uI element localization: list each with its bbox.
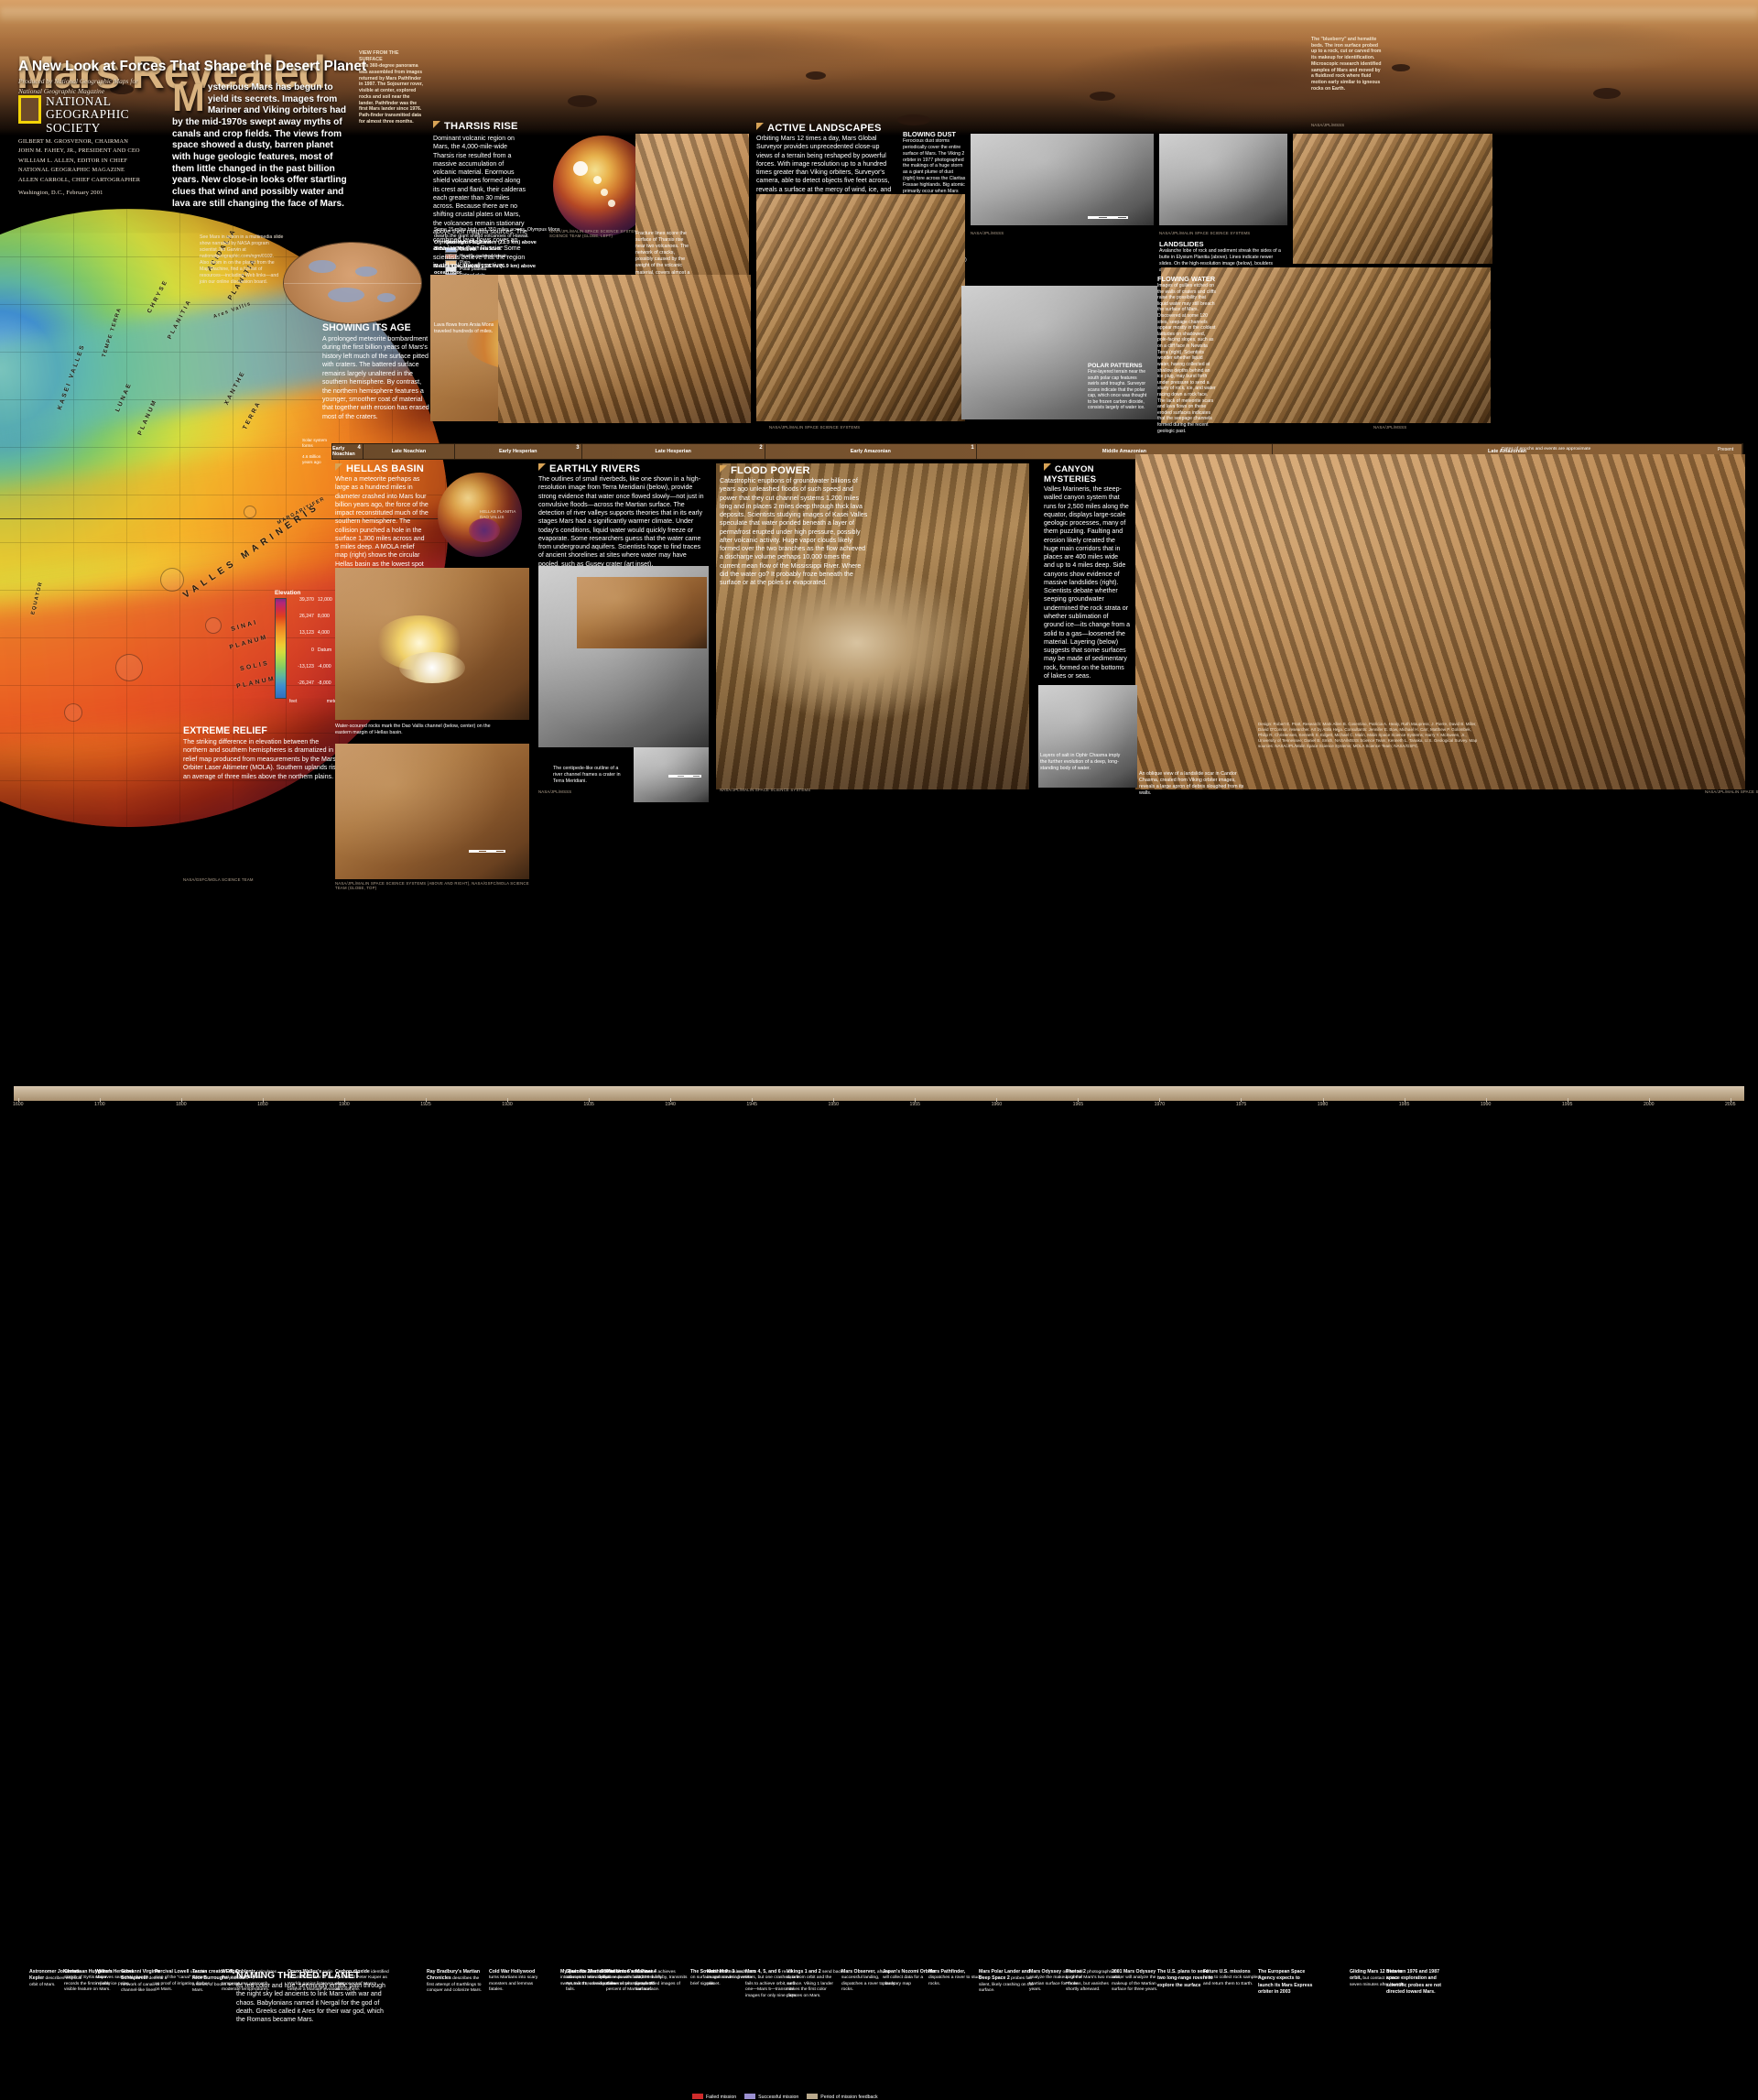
volcano-marker bbox=[608, 200, 615, 207]
design-credit: Design: Robert E. Pratt, Research: Mark … bbox=[1258, 722, 1478, 750]
legend-failed-mission: Failed mission bbox=[692, 2094, 736, 2100]
year-tick: 1800 bbox=[176, 1102, 187, 1107]
dao-vallis-photo bbox=[335, 744, 529, 879]
top-right-photo-note: The "blueberry" and hematite beds. The i… bbox=[1311, 37, 1383, 92]
panel-body: The striking difference in elevation bet… bbox=[183, 738, 343, 781]
epoch-segment: Early Hesperian3 bbox=[455, 444, 582, 459]
yellow-rectangle-icon bbox=[18, 95, 41, 124]
timeline-entry: Mariner 4 achieves successful flyby, tra… bbox=[635, 1969, 692, 1994]
epoch-approximate-note: Dates of epochs and events are approxima… bbox=[1502, 447, 1590, 452]
timeline-entry-title: Future U.S. missions bbox=[1203, 1969, 1251, 1975]
elevation-feet: 13,123 bbox=[289, 631, 314, 647]
timeline-entry: Vikings 1 and 2 send back data from orbi… bbox=[787, 1969, 843, 1999]
flag-icon bbox=[720, 465, 727, 473]
dust-plume-photo bbox=[1159, 134, 1287, 225]
epoch-label: Late Noachian bbox=[392, 449, 427, 454]
elevation-color-ramp bbox=[275, 598, 287, 699]
year-tick: 1925 bbox=[420, 1102, 431, 1107]
timeline-entry-title: W. W. Coblentz bbox=[222, 1969, 255, 1975]
epoch-marker: 1 bbox=[971, 445, 973, 451]
epoch-segment: Early Noachian4 bbox=[332, 444, 364, 459]
photo-credit: NASA/JPL/MALIN SPACE SCIENCE SYSTEMS bbox=[1705, 789, 1758, 794]
year-tick: 1965 bbox=[1073, 1102, 1084, 1107]
earthly-rivers-panel: EARTHLY RIVERS The outlines of small riv… bbox=[538, 463, 709, 569]
timeline-entry-title: Soviet Union's bbox=[601, 1969, 634, 1975]
year-tick: 2000 bbox=[1644, 1102, 1655, 1107]
olympus-datum-note: Olympus Mons 13.2 miles (21.3 km) above … bbox=[434, 240, 544, 254]
year-tick: 1900 bbox=[339, 1102, 350, 1107]
horizon-haze bbox=[0, 7, 1758, 20]
rock bbox=[806, 71, 826, 80]
timeline-entry-title: William Herschel bbox=[95, 1969, 133, 1975]
drop-cap: M bbox=[172, 83, 205, 114]
ejecta-plume bbox=[399, 652, 465, 683]
timeline-legend: Failed mission Successful mission Period… bbox=[692, 2094, 878, 2100]
panel-heading: EARTHLY RIVERS bbox=[538, 463, 709, 474]
rock bbox=[1090, 92, 1115, 101]
timeline-entry-title: Mariner 9 bbox=[707, 1969, 728, 1975]
panel-body: Fine-layered terrain near the south pola… bbox=[1088, 369, 1148, 411]
panel-body: Valles Marineris, the steep-walled canyo… bbox=[1044, 485, 1130, 680]
epoch-label: Late Hesperian bbox=[655, 449, 690, 454]
elevation-feet: 0 bbox=[289, 648, 314, 665]
gusev-crater-art-inset bbox=[577, 577, 707, 648]
timeline-entry: Mars Polar Lander and Deep Space 2 probe… bbox=[979, 1969, 1036, 1995]
river-channel-caption: The centipede-like outline of a river ch… bbox=[553, 766, 624, 785]
equator-line bbox=[284, 283, 421, 284]
timeline-entry: Carbon dioxide identified by Gerard Pete… bbox=[335, 1969, 392, 1994]
photo-credit: NASA/JPL/MSSS bbox=[971, 231, 1004, 235]
timeline-entry-title: Between 1976 and 1987 space exploration … bbox=[1386, 1969, 1441, 1995]
timeline-entry-title: Carbon dioxide bbox=[335, 1969, 370, 1975]
flag-icon bbox=[433, 121, 440, 128]
timeline-entry-title: Mariner 4 bbox=[635, 1969, 657, 1975]
hellas-basin-marker bbox=[469, 518, 500, 542]
timeline-entry: Ray Bradbury's Martian Chronicles descri… bbox=[427, 1969, 483, 1995]
timeline-entry-body: dispatches a rover to study rocks. bbox=[928, 1975, 982, 1986]
elevation-row: -13,123-4,000 bbox=[289, 665, 341, 681]
epoch-segment: Late Noachian bbox=[364, 444, 455, 459]
photo-credit: NASA/JPL/MALIN SPACE SCIENCE SYSTEMS bbox=[769, 425, 860, 430]
elevation-feet: 26,247 bbox=[289, 615, 314, 631]
elevation-feet: -13,123 bbox=[289, 665, 314, 681]
volcano-marker bbox=[601, 189, 608, 196]
elevation-feet: -26,247 bbox=[289, 681, 314, 698]
flag-icon bbox=[335, 463, 342, 471]
flag-icon bbox=[756, 123, 764, 130]
map-region bbox=[355, 267, 377, 277]
polar-patterns-panel: POLAR PATTERNS Fine-layered terrain near… bbox=[1088, 363, 1148, 411]
national-geographic-logo: NATIONAL GEOGRAPHIC SOCIETY bbox=[18, 95, 129, 135]
panel-heading: CANYON MYSTERIES bbox=[1044, 463, 1132, 484]
panel-heading: SHOWING ITS AGE bbox=[322, 322, 430, 333]
landslide-butte-photo bbox=[1293, 134, 1492, 264]
timeline-entry: The European Space Agency expects to lau… bbox=[1258, 1969, 1315, 1997]
year-tick: 1600 bbox=[13, 1102, 24, 1107]
timeline-entry-title: Mars Pathfinder, bbox=[928, 1969, 965, 1975]
epoch-marker: 3 bbox=[576, 445, 579, 451]
timeline-entry: William Herschel observes seasonal chang… bbox=[95, 1969, 152, 1987]
year-tick: 1700 bbox=[94, 1102, 105, 1107]
year-tick: 1940 bbox=[665, 1102, 676, 1107]
photo-credit: NASA/JPL/MALIN SPACE SCIENCE SYSTEMS bbox=[720, 788, 810, 792]
panel-heading: ACTIVE LANDSCAPES bbox=[756, 123, 894, 134]
rock bbox=[568, 95, 597, 107]
flowing-water-panel: FLOWING WATER Images of gullies etched o… bbox=[1157, 275, 1216, 434]
epoch-marker: 2 bbox=[759, 445, 762, 451]
map-region bbox=[377, 293, 396, 302]
timeline-entry: Future U.S. missions hope to collect roc… bbox=[1203, 1969, 1260, 1987]
map-region bbox=[328, 288, 364, 302]
scale-bar bbox=[1088, 216, 1128, 219]
epoch-marker: 4 bbox=[358, 445, 361, 451]
photo-credit: NASA/JPL/MSSS bbox=[538, 789, 571, 794]
swatch bbox=[807, 2094, 818, 2099]
elevation-row: -26,247-8,000 bbox=[289, 681, 341, 698]
panel-body: Images of gullies etched on the walls of… bbox=[1157, 283, 1216, 434]
timeline-entry-title: 2001 Mars Odyssey bbox=[1112, 1969, 1156, 1975]
scale-bar bbox=[469, 850, 505, 853]
dune-field-photo bbox=[756, 194, 965, 421]
elevation-row: 39,37012,000 bbox=[289, 598, 341, 615]
epoch-segment: Late Hesperian2 bbox=[582, 444, 765, 459]
epoch-segment: Early Amazonian1 bbox=[765, 444, 977, 459]
scale-bar-segments bbox=[469, 850, 505, 853]
photo-credit: NASA/JPL/MALIN SPACE SCIENCE SYSTEMS bbox=[1159, 231, 1250, 235]
scale-bar-segments bbox=[668, 775, 701, 778]
intro-paragraph: M ysterious Mars has begun to yield its … bbox=[172, 82, 352, 210]
elevation-row: 0Datum bbox=[289, 648, 341, 665]
timeline-entry-title: Cold War Hollywood bbox=[489, 1969, 535, 1975]
year-tick: 2005 bbox=[1725, 1102, 1736, 1107]
timeline-entry-title: The European Space Agency expects to lau… bbox=[1258, 1969, 1312, 1995]
year-tick: 1970 bbox=[1155, 1102, 1166, 1107]
year-tick: 1990 bbox=[1481, 1102, 1492, 1107]
layers-caption: Layers of salt in Ophir Chasma imply the… bbox=[1040, 753, 1126, 772]
photo-credit: NASA/JPL/MSSS bbox=[1373, 425, 1406, 430]
timeline-entry: Between 1976 and 1987 space exploration … bbox=[1386, 1969, 1443, 1997]
year-tick: 1935 bbox=[583, 1102, 594, 1107]
timeline-entry-title: Mars Odyssey bbox=[1029, 1969, 1061, 1975]
timeline-entry: Mars Pathfinder, dispatches a rover to s… bbox=[928, 1969, 985, 1987]
timeline-entry-body: turns Martians into scary monsters and l… bbox=[489, 1975, 537, 1992]
legend-title: Elevation bbox=[275, 590, 341, 596]
panel-heading: FLOOD POWER bbox=[720, 465, 872, 476]
timeline-entry-title: Percival Lowell bbox=[155, 1969, 189, 1975]
epoch-label: Early Hesperian bbox=[499, 449, 537, 454]
year-tick: 1950 bbox=[828, 1102, 839, 1107]
year-tick: 1850 bbox=[257, 1102, 268, 1107]
multimedia-promo-note: See Mars in action in a multimedia slide… bbox=[200, 234, 284, 286]
billions-years-ago-label: 4.6 Billion years ago bbox=[302, 454, 330, 464]
rock bbox=[1593, 88, 1621, 99]
elevation-legend: Elevation 39,37012,00026,2478,00013,1234… bbox=[275, 590, 341, 704]
panel-body: The outlines of small riverbeds, like on… bbox=[538, 475, 707, 569]
year-tick: 1955 bbox=[910, 1102, 921, 1107]
canyon-mysteries-panel: CANYON MYSTERIES Valles Marineris, the s… bbox=[1044, 463, 1132, 680]
olympus-mons-marker bbox=[573, 161, 588, 176]
scale-bar bbox=[668, 775, 701, 778]
elevation-row: 13,1234,000 bbox=[289, 631, 341, 647]
solar-system-forms-label: Solar system forms bbox=[302, 438, 330, 448]
lava-flow-note: Lava flows from Arsia Mons traveled hund… bbox=[434, 322, 498, 335]
timeline-entry-body: orbiter will analyze the makeup of the M… bbox=[1112, 1975, 1157, 1992]
hellas-globe-labels: HELLAS PLANITIA DAO VALLIS bbox=[480, 509, 520, 520]
year-tick: 1930 bbox=[502, 1102, 513, 1107]
swatch bbox=[744, 2094, 755, 2099]
oblique-view-caption: An oblique view of a landslide scar in C… bbox=[1139, 771, 1249, 797]
rock bbox=[897, 114, 930, 125]
present-label: Present bbox=[1718, 447, 1733, 452]
valles-marineris-photo bbox=[498, 275, 751, 423]
logo-wordmark: NATIONAL GEOGRAPHIC SOCIETY bbox=[46, 95, 129, 135]
timeline-entry-title: Mars 4, 5, and 6 bbox=[745, 1969, 781, 1975]
year-tick: 1980 bbox=[1318, 1102, 1329, 1107]
panel-heading: EXTREME RELIEF bbox=[183, 725, 343, 736]
flood-power-panel: FLOOD POWER Catastrophic eruptions of gr… bbox=[720, 465, 872, 587]
panel-body: A prolonged meteorite bombardment during… bbox=[322, 335, 430, 421]
page-subtitle: A New Look at Forces That Shape the Dese… bbox=[18, 59, 366, 75]
elevation-feet: 39,370 bbox=[289, 598, 314, 615]
volcano-marker bbox=[593, 176, 602, 184]
geology-oval-map bbox=[284, 243, 421, 323]
masthead-credits: GILBERT M. GROSVENOR, CHAIRMAN JOHN M. F… bbox=[18, 137, 183, 198]
map-region bbox=[309, 260, 336, 273]
panel-body: Orbiting Mars 12 times a day, Mars Globa… bbox=[756, 135, 892, 202]
unit-feet: feet bbox=[289, 699, 297, 704]
panel-body: Catastrophic eruptions of groundwater bi… bbox=[720, 477, 870, 587]
timeline-entry-body: observes seasonal change in polar ice po… bbox=[95, 1975, 148, 1986]
olympus-scale-note: Some 15 miles high and 350 miles across,… bbox=[434, 227, 562, 240]
panel-heading: BLOWING DUST bbox=[903, 130, 967, 138]
photo-credit: NASA/JPL/MSSS bbox=[1311, 123, 1344, 127]
extreme-relief-panel: EXTREME RELIEF The striking difference i… bbox=[183, 725, 343, 781]
rock bbox=[1392, 64, 1410, 71]
scale-bar-segments bbox=[1088, 216, 1128, 219]
timeline-entry-title: Vikings 1 and 2 bbox=[787, 1969, 821, 1975]
year-tick: 1960 bbox=[992, 1102, 1003, 1107]
swatch bbox=[692, 2094, 703, 2099]
legend-mission-feedback: Period of mission feedback bbox=[807, 2094, 877, 2100]
view-from-surface-note: VIEW FROM THE SURFACE This 360-degree pa… bbox=[359, 50, 423, 125]
legend-successful-mission: Successful mission bbox=[744, 2094, 798, 2100]
dust-dunes-photo bbox=[971, 134, 1154, 225]
hellas-impact-illustration bbox=[335, 568, 529, 720]
panel-heading: LANDSLIDES bbox=[1159, 240, 1287, 248]
flag-icon bbox=[1044, 463, 1051, 471]
panel-heading: FLOWING WATER bbox=[1157, 275, 1216, 283]
elevation-row: 26,2478,000 bbox=[289, 615, 341, 631]
year-tick: 1945 bbox=[746, 1102, 757, 1107]
timeline-entry: Cold War Hollywood turns Martians into s… bbox=[489, 1969, 546, 1994]
showing-its-age-panel: SHOWING ITS AGE A prolonged meteorite bo… bbox=[322, 322, 430, 421]
panel-heading: POLAR PATTERNS bbox=[1088, 363, 1148, 369]
dao-vallis-caption: Water-scoured rocks mark the Dao Vallis … bbox=[335, 724, 491, 736]
timeline-entry-body: will collect data for a planetary map bbox=[883, 1975, 923, 1986]
active-landscapes-panel: ACTIVE LANDSCAPES Orbiting Mars 12 times… bbox=[756, 123, 894, 202]
timeline-entry-title: Orson Welles's bbox=[288, 1969, 321, 1975]
photo-credit: NASA/JPL/MALIN SPACE SCIENCE SYSTEMS (AB… bbox=[335, 881, 529, 890]
timeline-entry-title: Mars Observer, bbox=[841, 1969, 876, 1975]
timeline-entry-title: Photos 2 bbox=[1066, 1969, 1086, 1975]
year-tick: 1985 bbox=[1399, 1102, 1410, 1107]
flag-icon bbox=[538, 463, 546, 471]
poster-root: Mars Revealed A New Look at Forces That … bbox=[0, 0, 1758, 1139]
photo-credit: NASA/GSFC/MOLA SCIENCE TEAM bbox=[183, 877, 254, 882]
epoch-label: Early Amazonian bbox=[851, 449, 891, 454]
timeline-entry-body: hope to collect rock samples and return … bbox=[1203, 1975, 1260, 1986]
mars-exploration-timeline: NAMING THE RED PLANET Its red color and … bbox=[0, 980, 1758, 1139]
year-tick: 1995 bbox=[1562, 1102, 1573, 1107]
year-tick: 1975 bbox=[1236, 1102, 1247, 1107]
panel-heading: THARSIS RISE bbox=[433, 121, 529, 132]
timeline-year-ticks: 1600170018001850190019251930193519401945… bbox=[13, 1102, 1745, 1115]
timeline-entry: W. W. Coblentz calculates that average d… bbox=[222, 1969, 278, 1994]
